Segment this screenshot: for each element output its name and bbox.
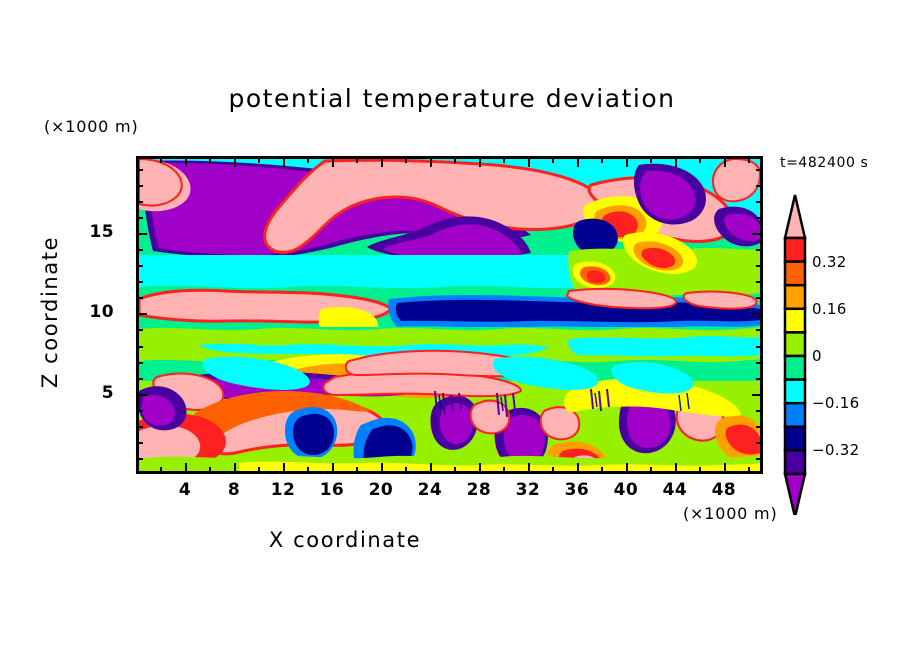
axis-tick — [136, 169, 143, 171]
axis-tick — [752, 313, 763, 315]
axis-tick — [756, 185, 763, 187]
x-tick-label: 12 — [263, 480, 303, 500]
axis-tick — [136, 410, 143, 412]
axis-tick — [528, 463, 530, 474]
colorbar-svg — [778, 193, 812, 515]
axis-tick — [258, 467, 260, 474]
x-tick-label: 28 — [459, 480, 499, 500]
x-tick-label: 32 — [508, 480, 548, 500]
axis-tick — [307, 156, 309, 163]
axis-tick — [381, 463, 383, 474]
axis-tick — [356, 467, 358, 474]
axis-tick — [601, 467, 603, 474]
axis-tick — [756, 410, 763, 412]
axis-tick — [136, 442, 143, 444]
axis-tick — [307, 467, 309, 474]
axis-tick — [136, 281, 143, 283]
axis-tick — [503, 156, 505, 163]
axis-tick — [577, 156, 579, 167]
axis-tick — [136, 329, 143, 331]
axis-tick — [756, 426, 763, 428]
axis-tick — [756, 362, 763, 364]
axis-tick — [577, 463, 579, 474]
x-tick-label: 20 — [361, 480, 401, 500]
x-axis-unit-label: (×1000 m) — [683, 504, 777, 523]
axis-tick — [136, 201, 143, 203]
axis-tick — [752, 233, 763, 235]
axis-tick — [601, 156, 603, 163]
axis-tick — [234, 156, 236, 167]
axis-tick — [258, 156, 260, 163]
chart-title: potential temperature deviation — [0, 84, 904, 113]
axis-tick — [454, 156, 456, 163]
axis-tick — [136, 265, 143, 267]
axis-tick — [430, 156, 432, 167]
axis-tick — [675, 463, 677, 474]
axis-tick — [756, 281, 763, 283]
axis-tick — [136, 426, 143, 428]
axis-tick — [405, 467, 407, 474]
axis-tick — [528, 156, 530, 167]
axis-tick — [136, 378, 143, 380]
axis-tick — [503, 467, 505, 474]
colorbar-tick-label: −0.16 — [812, 394, 859, 412]
axis-tick — [752, 394, 763, 396]
axis-tick — [479, 463, 481, 474]
colorbar-tick-label: 0.32 — [812, 253, 847, 271]
axis-tick — [209, 467, 211, 474]
x-tick-label: 40 — [606, 480, 646, 500]
axis-tick — [381, 156, 383, 167]
axis-tick — [756, 458, 763, 460]
axis-tick — [136, 458, 143, 460]
axis-tick — [136, 185, 143, 187]
axis-tick — [699, 467, 701, 474]
axis-tick — [479, 156, 481, 167]
axis-tick — [283, 156, 285, 167]
contour-field — [139, 159, 760, 471]
axis-tick — [136, 313, 147, 315]
axis-tick — [650, 156, 652, 163]
z-axis-unit-label: (×1000 m) — [44, 117, 138, 136]
axis-tick — [160, 156, 162, 163]
colorbar[interactable] — [778, 193, 812, 515]
axis-tick — [552, 156, 554, 163]
axis-tick — [756, 329, 763, 331]
x-tick-label: 44 — [655, 480, 695, 500]
axis-tick — [332, 156, 334, 167]
axis-tick — [756, 201, 763, 203]
axis-tick — [756, 378, 763, 380]
x-axis-title: X coordinate — [0, 528, 690, 552]
axis-tick — [332, 463, 334, 474]
x-tick-label: 8 — [214, 480, 254, 500]
axis-tick — [756, 265, 763, 267]
axis-tick — [756, 442, 763, 444]
axis-tick — [756, 217, 763, 219]
axis-tick — [356, 156, 358, 163]
axis-tick — [626, 463, 628, 474]
axis-tick — [699, 156, 701, 163]
colorbar-tick-label: −0.32 — [812, 441, 859, 459]
axis-tick — [136, 249, 143, 251]
axis-tick — [724, 463, 726, 474]
axis-tick — [209, 156, 211, 163]
y-tick-label: 5 — [78, 383, 114, 403]
y-tick-label: 15 — [78, 222, 114, 242]
axis-tick — [283, 463, 285, 474]
colorbar-tick-label: 0 — [812, 347, 822, 365]
axis-tick — [405, 156, 407, 163]
axis-tick — [756, 169, 763, 171]
axis-tick — [552, 467, 554, 474]
y-axis-title: Z coordinate — [38, 202, 62, 422]
x-tick-label: 48 — [704, 480, 744, 500]
axis-tick — [675, 156, 677, 167]
axis-tick — [430, 463, 432, 474]
axis-tick — [136, 297, 143, 299]
axis-tick — [234, 463, 236, 474]
axis-tick — [748, 467, 750, 474]
axis-tick — [756, 297, 763, 299]
colorbar-tick-label: 0.16 — [812, 300, 847, 318]
plot-area — [136, 156, 763, 474]
x-tick-label: 4 — [165, 480, 205, 500]
timestamp-annotation: t=482400 s — [780, 155, 868, 171]
axis-tick — [136, 394, 147, 396]
axis-tick — [454, 467, 456, 474]
axis-tick — [136, 217, 143, 219]
axis-tick — [136, 233, 147, 235]
axis-tick — [136, 362, 143, 364]
figure-canvas: potential temperature deviation (×1000 m… — [0, 0, 904, 654]
x-tick-label: 36 — [557, 480, 597, 500]
axis-tick — [626, 156, 628, 167]
axis-tick — [185, 156, 187, 167]
axis-tick — [756, 346, 763, 348]
axis-tick — [160, 467, 162, 474]
x-tick-label: 24 — [410, 480, 450, 500]
x-tick-label: 16 — [312, 480, 352, 500]
axis-tick — [650, 467, 652, 474]
axis-tick — [185, 463, 187, 474]
axis-tick — [756, 249, 763, 251]
axis-tick — [748, 156, 750, 163]
y-tick-label: 10 — [78, 302, 114, 322]
axis-tick — [724, 156, 726, 167]
axis-tick — [136, 346, 143, 348]
